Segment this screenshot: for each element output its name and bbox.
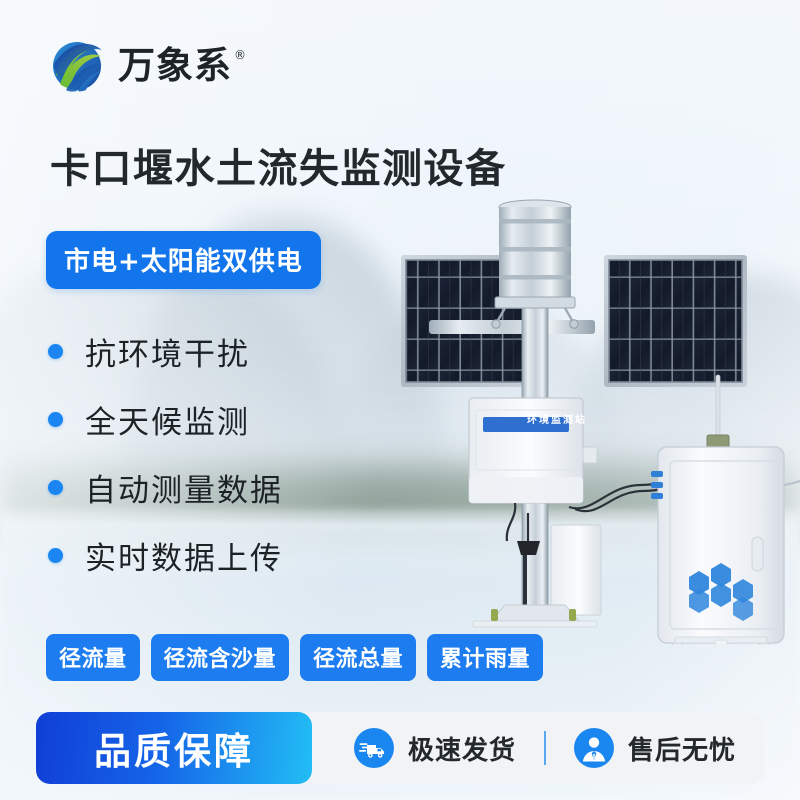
list-item: 实时数据上传	[48, 521, 283, 589]
delivery-truck-icon	[354, 728, 394, 768]
trust-item-list: 极速发货 售后无忧	[326, 712, 764, 784]
feature-label: 全天候监测	[85, 397, 250, 442]
trust-bar: 品质保障	[36, 712, 764, 784]
page-title: 卡口堰水土流失监测设备	[50, 147, 507, 191]
feature-label: 抗环境干扰	[85, 329, 250, 374]
list-item: 全天候监测	[48, 385, 283, 453]
bullet-dot-icon	[48, 412, 63, 427]
feature-label: 自动测量数据	[85, 465, 283, 510]
station-label-text: 环境监测站	[520, 411, 594, 426]
metric-tag: 径流量	[46, 634, 140, 681]
trust-item-label: 售后无忧	[628, 730, 736, 767]
globe-swirl-logo-icon	[50, 36, 106, 94]
list-item: 自动测量数据	[48, 453, 283, 521]
equipment-cabinet-icon	[651, 375, 800, 645]
product-poster: 环境监测站 万象系 ®	[0, 0, 800, 800]
quality-guarantee-label: 品质保障	[94, 721, 254, 775]
brand-name: 万象系	[118, 47, 232, 84]
metric-tag: 径流总量	[300, 634, 416, 681]
bullet-dot-icon	[48, 480, 63, 495]
trust-item-label: 极速发货	[408, 730, 516, 767]
brand-logo[interactable]: 万象系 ®	[50, 36, 246, 94]
power-supply-badge: 市电+太阳能双供电	[46, 231, 321, 289]
metric-tag: 累计雨量	[427, 634, 543, 681]
battery-box-icon	[551, 525, 601, 615]
customer-service-person-icon	[574, 728, 614, 768]
feature-label: 实时数据上传	[85, 533, 283, 578]
metric-tag-list: 径流量 径流含沙量 径流总量 累计雨量	[46, 634, 543, 681]
bullet-dot-icon	[48, 344, 63, 359]
divider	[544, 731, 546, 765]
feature-list: 抗环境干扰 全天候监测 自动测量数据 实时数据上传	[48, 317, 283, 589]
quality-guarantee-badge: 品质保障	[36, 712, 312, 784]
solar-panel-right-icon	[604, 255, 747, 387]
list-item: 抗环境干扰	[48, 317, 283, 385]
bullet-dot-icon	[48, 548, 63, 563]
trust-item-after-sales: 售后无忧	[546, 728, 764, 768]
registered-trademark-icon: ®	[234, 48, 246, 62]
cable-gland-icon	[651, 471, 663, 499]
trust-item-fast-delivery: 极速发货	[326, 728, 544, 768]
metric-tag: 径流含沙量	[151, 634, 290, 681]
